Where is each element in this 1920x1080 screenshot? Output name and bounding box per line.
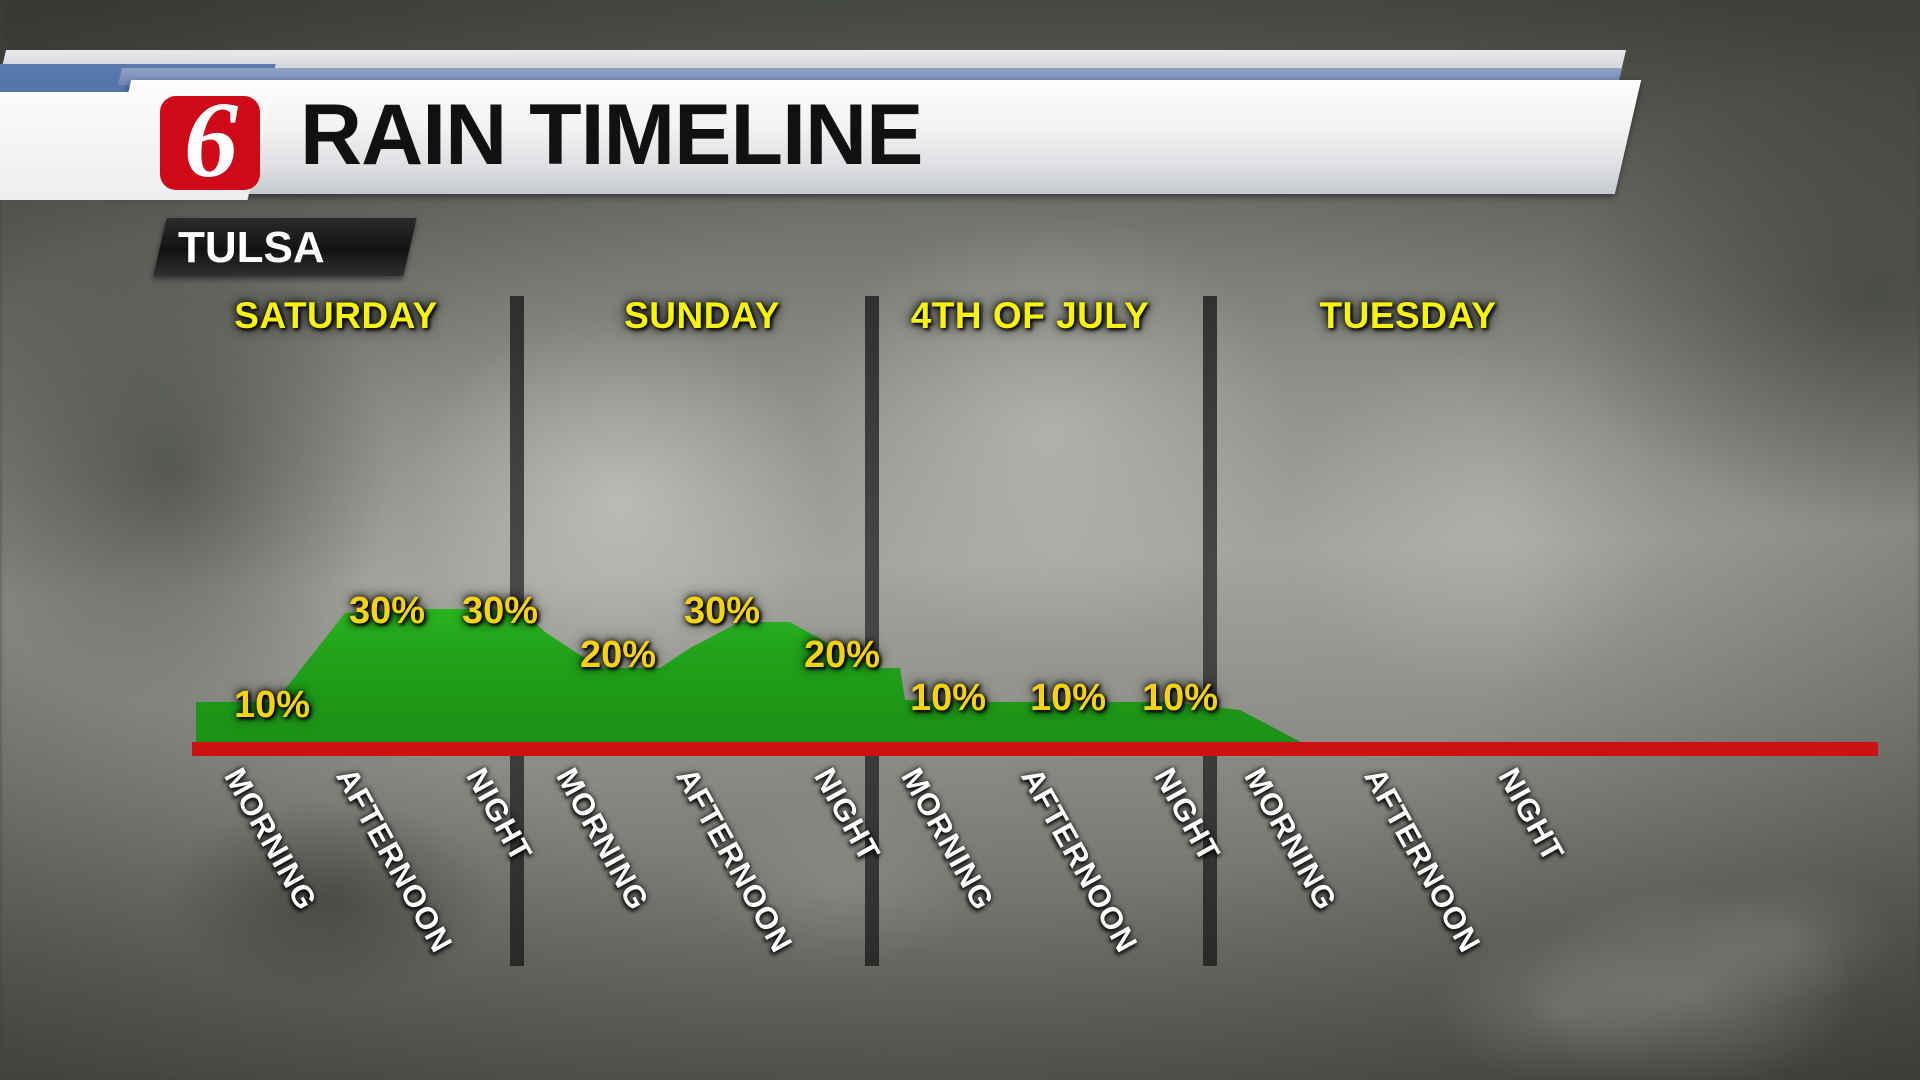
rain-probability-area-chart — [0, 0, 1920, 1080]
value-label-7: 10% — [1030, 677, 1106, 720]
weather-graphic: 6 RAIN TIMELINE TULSA SATURDAY SUNDAY 4T… — [0, 0, 1920, 1080]
value-label-6: 10% — [910, 677, 986, 720]
value-label-8: 10% — [1142, 677, 1218, 720]
value-label-5: 20% — [804, 634, 880, 677]
rain-timeline-chart: SATURDAY SUNDAY 4TH OF JULY TUESDAY 10% … — [0, 0, 1920, 1080]
baseline-red — [192, 742, 1878, 756]
value-label-0: 10% — [234, 684, 310, 727]
value-label-1: 30% — [349, 590, 425, 633]
value-label-3: 20% — [580, 634, 656, 677]
value-label-2: 30% — [462, 590, 538, 633]
value-label-4: 30% — [684, 590, 760, 633]
